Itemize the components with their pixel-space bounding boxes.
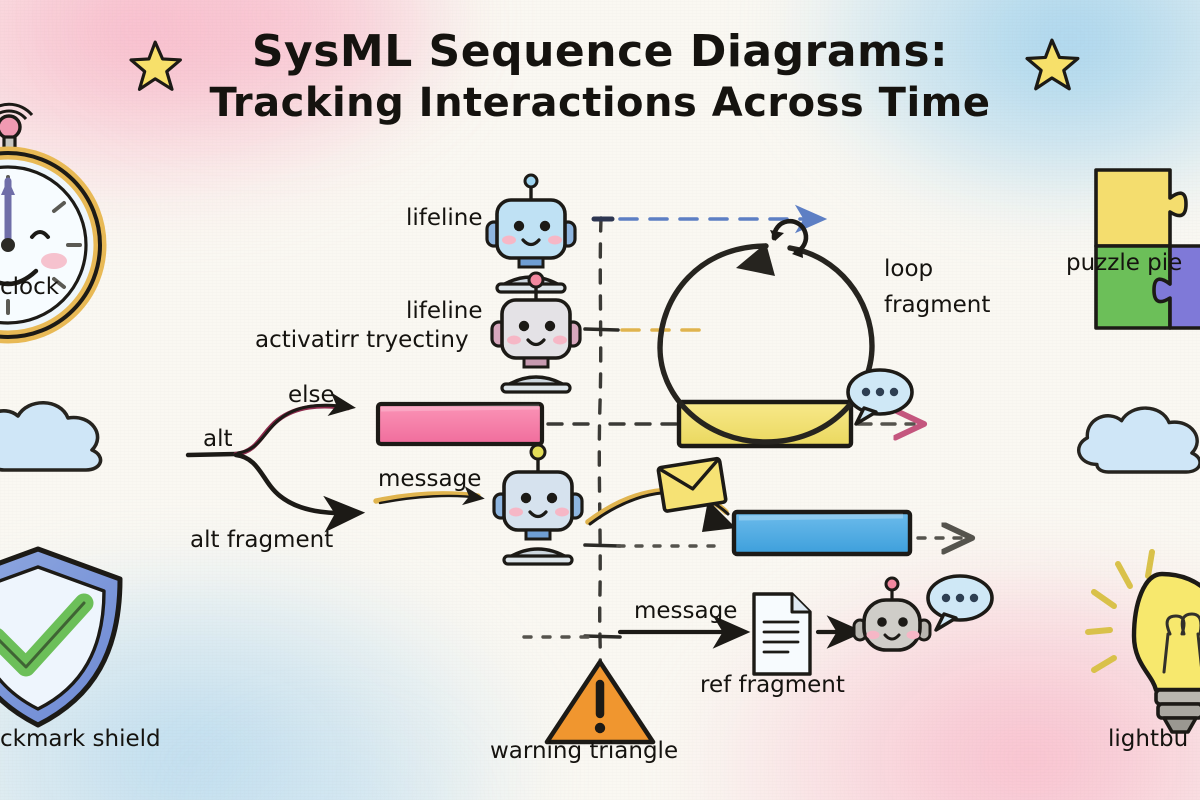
title-line-1: SysML Sequence Diagrams: bbox=[0, 26, 1200, 78]
alt-message-label: message bbox=[378, 466, 481, 493]
lifeline-2-sublabel: activatirr tryectiny bbox=[255, 327, 469, 354]
lifeline-vertical-axis bbox=[599, 218, 601, 668]
ref-message-label: message bbox=[634, 598, 737, 625]
alt-message-arrow-yellow bbox=[376, 494, 480, 503]
loop-fragment-label-1: loop bbox=[884, 256, 933, 283]
loop-refresh-icon bbox=[770, 221, 806, 258]
envelope-icon bbox=[658, 458, 726, 511]
robot-gray-icon bbox=[854, 578, 930, 650]
title-line-2: Tracking Interactions Across Time bbox=[0, 78, 1200, 128]
lifeline-1-label: lifeline bbox=[406, 205, 483, 232]
puzzle-pieces-caption: puzzle pie bbox=[1066, 250, 1182, 277]
loop-fragment-label-2: fragment bbox=[884, 292, 990, 319]
lifeline-2-label: lifeline bbox=[406, 298, 483, 325]
clock-caption: clock bbox=[0, 274, 59, 301]
cloud-icon-right bbox=[1079, 408, 1200, 472]
speech-bubble-icon-ref bbox=[928, 576, 992, 630]
checkmark-shield-icon bbox=[0, 549, 120, 725]
page-title: SysML Sequence Diagrams: Tracking Intera… bbox=[0, 26, 1200, 128]
alt-label: alt bbox=[203, 426, 233, 453]
diagram-canvas: SysML Sequence Diagrams: Tracking Intera… bbox=[0, 0, 1200, 800]
warning-triangle-icon bbox=[547, 662, 653, 742]
lightbulb-caption: lightbu bbox=[1108, 726, 1188, 753]
lifeline-axis-ticks bbox=[585, 329, 620, 637]
puzzle-pieces-icon bbox=[1096, 135, 1200, 328]
document-icon bbox=[754, 594, 810, 674]
cloud-icon-left bbox=[0, 403, 101, 470]
else-label: else bbox=[288, 382, 335, 409]
else-activation-bar bbox=[378, 404, 542, 444]
message-activation-bar bbox=[734, 512, 910, 554]
robot-blue-icon-2 bbox=[494, 445, 582, 564]
speech-bubble-icon-loop bbox=[848, 370, 912, 424]
warning-triangle-caption: warning triangle bbox=[490, 738, 678, 765]
lightbulb-icon bbox=[1088, 552, 1200, 732]
checkmark-shield-caption: ckmark shield bbox=[0, 726, 161, 753]
alt-fragment-caption: alt fragment bbox=[190, 527, 333, 554]
clock-icon bbox=[0, 104, 100, 337]
alt-branch-arrows bbox=[188, 405, 356, 513]
ref-fragment-caption: ref fragment bbox=[700, 672, 845, 699]
